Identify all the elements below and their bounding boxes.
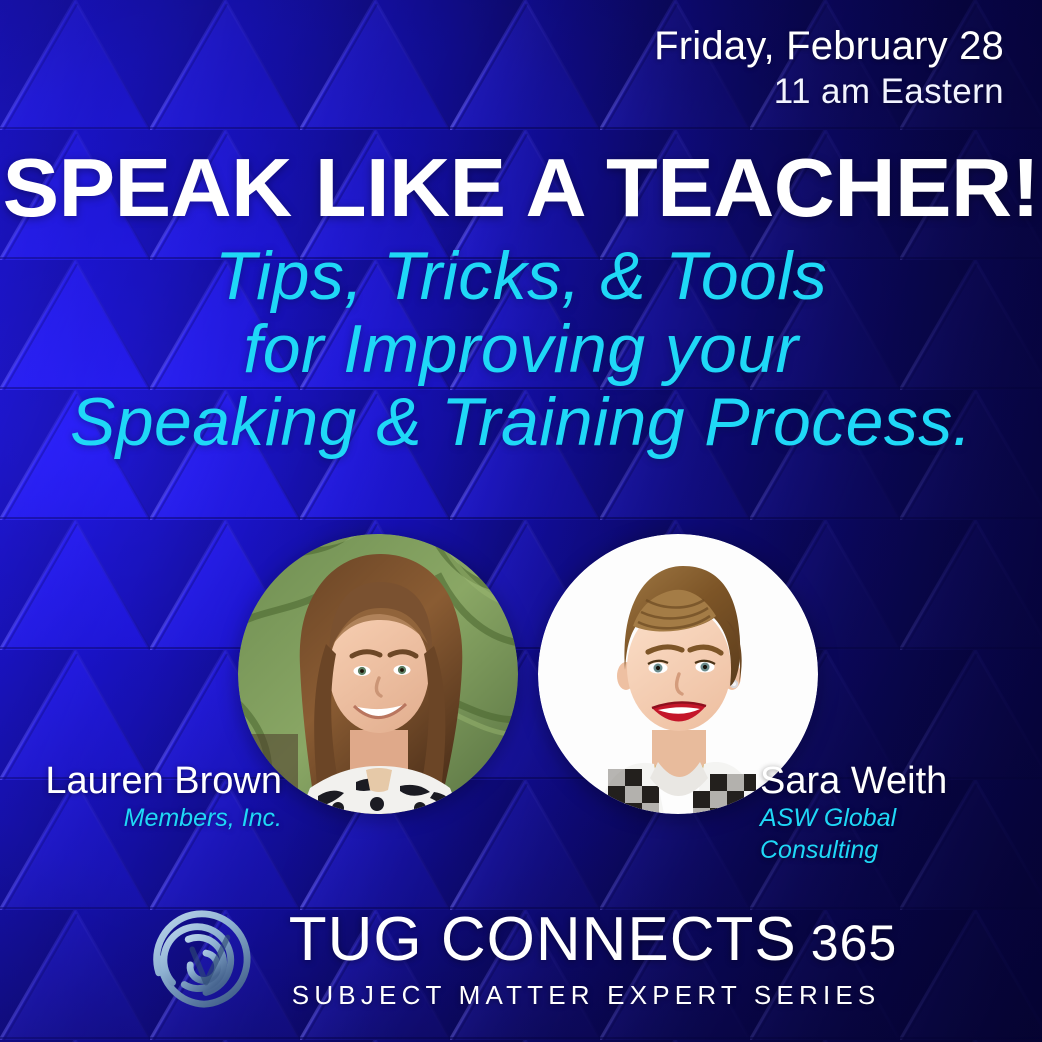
brand-text: TUG CONNECTS 365 SUBJECT MATTER EXPERT S… [289, 907, 897, 1012]
event-date: Friday, February 28 [654, 22, 1004, 70]
spiral-logo-icon [145, 900, 263, 1018]
speaker-info-left: Lauren Brown Members, Inc. [22, 760, 282, 834]
speaker-org-right: ASW Global Consulting [760, 802, 1020, 866]
subtitle-line-1: Tips, Tricks, & Tools [0, 240, 1042, 313]
speaker-name-left: Lauren Brown [22, 760, 282, 802]
event-datetime-block: Friday, February 28 11 am Eastern [654, 22, 1004, 114]
brand-name: TUG CONNECTS [289, 907, 797, 973]
brand-tagline: SUBJECT MATTER EXPERT SERIES [289, 978, 881, 1012]
speaker-name-right: Sara Weith [760, 760, 1020, 802]
subtitle-line-3: Speaking & Training Process. [0, 386, 1042, 459]
brand-lockup: TUG CONNECTS 365 SUBJECT MATTER EXPERT S… [0, 900, 1042, 1018]
page-title: SPEAK LIKE A TEACHER! [0, 142, 1042, 234]
subtitle-block: Tips, Tricks, & Tools for Improving your… [0, 240, 1042, 459]
speaker-org-left: Members, Inc. [22, 802, 282, 834]
speaker-info-right: Sara Weith ASW Global Consulting [760, 760, 1020, 866]
event-time: 11 am Eastern [654, 70, 1004, 114]
brand-number: 365 [811, 910, 897, 976]
webinar-promo-poster: Friday, February 28 11 am Eastern SPEAK … [0, 0, 1042, 1042]
subtitle-line-2: for Improving your [0, 313, 1042, 386]
brand-name-row: TUG CONNECTS 365 [289, 907, 897, 976]
